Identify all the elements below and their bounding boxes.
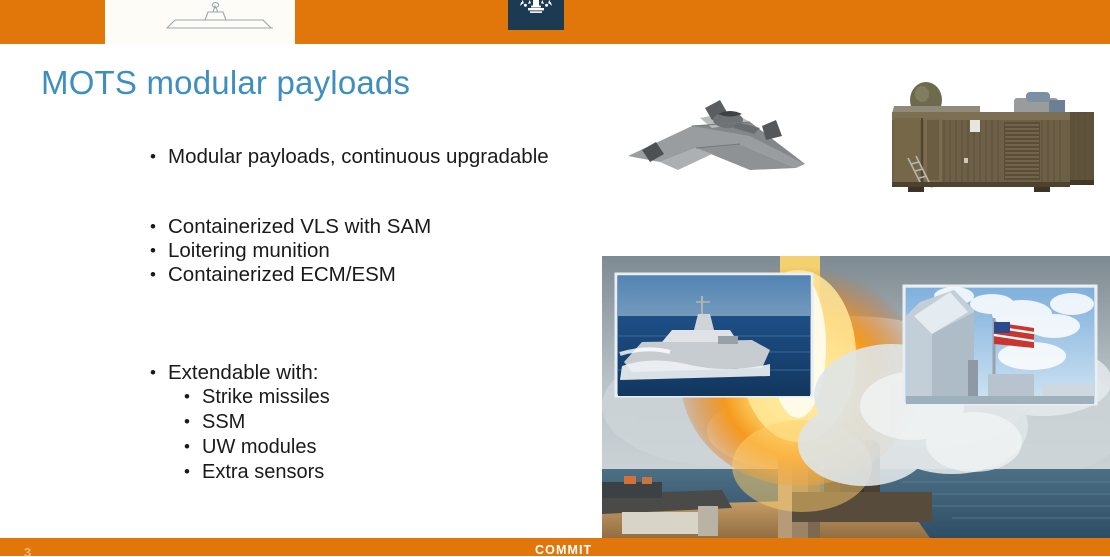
slide-title: MOTS modular payloads — [41, 64, 410, 102]
missile-launch-illustration-icon — [602, 256, 1110, 541]
bullet-content: • Modular payloads, continuous upgradabl… — [150, 145, 570, 485]
drone-illustration-icon — [600, 78, 830, 200]
naval-vessel-inset-photo — [616, 274, 812, 396]
bullet-subitem: • Extra sensors — [184, 460, 570, 485]
bullet-item: • Containerized ECM/ESM — [150, 263, 570, 287]
bullet-group-1: • Modular payloads, continuous upgradabl… — [150, 145, 570, 169]
ship-superstructure-inset-photo — [904, 286, 1096, 404]
bullet-glyph-icon: • — [184, 435, 202, 459]
bullet-label: Containerized VLS with SAM — [168, 215, 570, 239]
loitering-munition-drone-photo — [600, 78, 830, 200]
container-illustration-icon — [884, 62, 1102, 197]
bullet-glyph-icon: • — [184, 385, 202, 409]
spacer — [150, 287, 570, 333]
header-ship-drawing-box — [105, 0, 295, 44]
bullet-subitem: • UW modules — [184, 435, 570, 460]
bullet-group-2: • Containerized VLS with SAM • Loitering… — [150, 215, 570, 287]
bullet-item: • Extendable with: — [150, 361, 570, 385]
spacer — [150, 333, 570, 361]
bullet-item: • Modular payloads, continuous upgradabl… — [150, 145, 570, 169]
bullet-label: Extendable with: — [168, 361, 570, 385]
dutch-government-crest-icon — [508, 0, 564, 30]
bullet-label: UW modules — [202, 435, 570, 460]
bullet-glyph-icon: • — [184, 460, 202, 484]
bullet-item: • Loitering munition — [150, 239, 570, 263]
bullet-glyph-icon: • — [150, 263, 168, 287]
missile-launch-photo — [602, 256, 1110, 541]
containerized-payload-shelter-photo — [884, 62, 1102, 197]
dutch-government-crest-box — [508, 0, 564, 30]
spacer — [150, 169, 570, 215]
bullet-group-3: • Extendable with: • Strike missiles • S… — [150, 361, 570, 485]
bullet-glyph-icon: • — [150, 145, 168, 169]
bullet-glyph-icon: • — [184, 410, 202, 434]
bullet-label: Strike missiles — [202, 385, 570, 410]
header-band — [0, 0, 1110, 44]
bullet-glyph-icon: • — [150, 239, 168, 263]
bullet-sublist: • Strike missiles • SSM • UW modules • E… — [184, 385, 570, 485]
bullet-glyph-icon: • — [150, 361, 168, 385]
footer-brand-label: COMMIT — [535, 543, 592, 557]
bullet-item: • Containerized VLS with SAM — [150, 215, 570, 239]
bullet-glyph-icon: • — [150, 215, 168, 239]
page-number: 3 — [24, 545, 31, 556]
bullet-label: Extra sensors — [202, 460, 570, 485]
bullet-label: Containerized ECM/ESM — [168, 263, 570, 287]
bullet-label: Loitering munition — [168, 239, 570, 263]
naval-ship-line-drawing-icon — [105, 0, 295, 44]
bullet-label: Modular payloads, continuous upgradable — [168, 145, 570, 169]
bullet-subitem: • SSM — [184, 410, 570, 435]
bullet-label: SSM — [202, 410, 570, 435]
bullet-subitem: • Strike missiles — [184, 385, 570, 410]
